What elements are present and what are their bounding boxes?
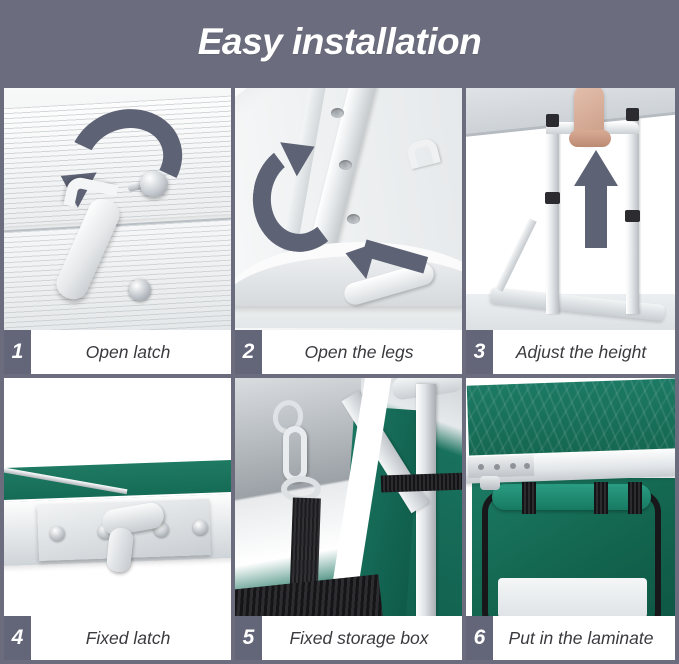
step-3-caption: 3 Adjust the height [466, 330, 675, 374]
bracket-screw [494, 464, 500, 470]
step-card-4: 4 Fixed latch [0, 374, 231, 664]
up-arrow-head-icon [574, 150, 618, 186]
leg-cap-right [626, 108, 639, 121]
step-1-caption: 1 Open latch [4, 330, 231, 374]
step-label-3: Adjust the height [493, 330, 675, 374]
step-3-illustration [466, 88, 675, 334]
page-title: Easy installation [198, 21, 482, 63]
poster-header: Easy installation [0, 0, 679, 84]
step-5-illustration [235, 378, 462, 624]
step-6-illustration [466, 378, 675, 624]
legs-scene [235, 88, 462, 334]
latch-scene [4, 88, 231, 334]
step-1-illustration [4, 88, 231, 334]
table-slat-lower [4, 217, 231, 334]
step-number-badge-6: 6 [466, 616, 493, 660]
storage-box-fixing-scene [235, 378, 462, 624]
leg-hole [331, 108, 344, 118]
plate-rivet [50, 526, 65, 541]
step-5-caption: 5 Fixed storage box [235, 616, 462, 660]
step-number-badge-5: 5 [235, 616, 262, 660]
hand-fingers [569, 130, 611, 147]
leg-collar-left [545, 192, 560, 204]
height-adjust-scene [466, 88, 675, 334]
latch-rivet [129, 279, 151, 301]
easy-installation-poster: Easy installation 1 Open [0, 0, 679, 664]
leg-post-left [546, 124, 559, 314]
carabiner-clip-icon [283, 426, 307, 482]
step-card-2: 2 Open the legs [231, 84, 462, 374]
bracket-screw [510, 463, 516, 469]
leg-collar-right [625, 210, 640, 222]
step-label-6: Put in the laminate [493, 616, 675, 660]
latch-ball-knob [140, 171, 168, 197]
step-number-badge-4: 4 [4, 616, 31, 660]
roll-bar-strap [628, 482, 642, 514]
steps-grid: 1 Open latch [0, 84, 679, 664]
bracket-screw [524, 463, 530, 469]
roll-bar-strap [594, 482, 608, 514]
step-label-4: Fixed latch [31, 616, 231, 660]
step-card-1: 1 Open latch [0, 84, 231, 374]
white-laminate-board [498, 578, 647, 618]
step-label-1: Open latch [31, 330, 231, 374]
step-card-5: 5 Fixed storage box [231, 374, 462, 664]
step-number-badge-1: 1 [4, 330, 31, 374]
leg-diagonal-support [495, 218, 536, 292]
step-label-5: Fixed storage box [262, 616, 462, 660]
box-attachment-clip [480, 476, 500, 490]
step-card-6: 6 Put in the laminate [462, 374, 679, 664]
step-2-caption: 2 Open the legs [235, 330, 462, 374]
laminate-install-scene [466, 378, 675, 624]
fixed-latch-scene [4, 378, 231, 624]
leg-cap-left [546, 114, 559, 127]
up-arrow-shaft-icon [585, 184, 607, 248]
step-label-2: Open the legs [262, 330, 462, 374]
storage-box-strap [381, 472, 462, 492]
bracket-screw [478, 464, 484, 470]
step-2-illustration [235, 88, 462, 334]
step-4-caption: 4 Fixed latch [4, 616, 231, 660]
step-number-badge-2: 2 [235, 330, 262, 374]
roll-bar-strap [522, 482, 536, 514]
step-4-illustration [4, 378, 231, 624]
step-card-3: 3 Adjust the height [462, 84, 679, 374]
step-6-caption: 6 Put in the laminate [466, 616, 675, 660]
step-number-badge-3: 3 [466, 330, 493, 374]
leg-hole [347, 214, 360, 224]
latch-lever-handle [106, 527, 134, 573]
plate-rivet [193, 520, 208, 535]
